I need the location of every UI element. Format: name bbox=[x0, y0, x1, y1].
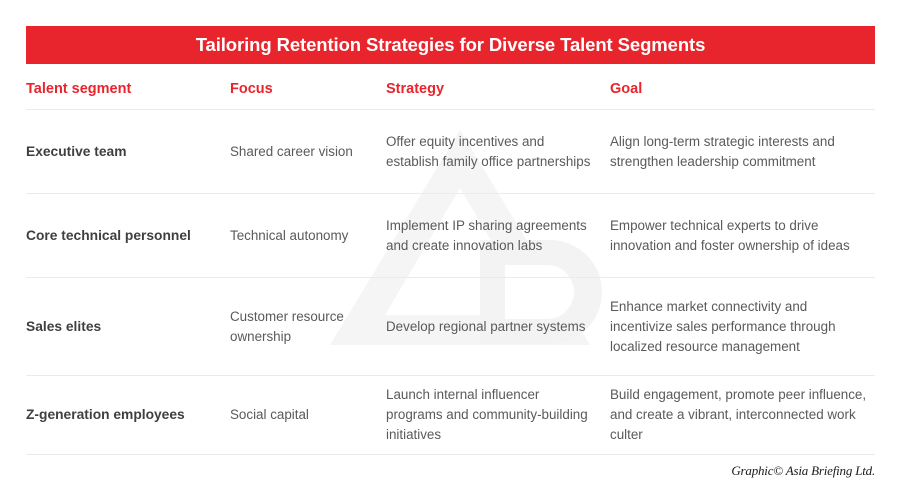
cell-talent-segment: Z-generation employees bbox=[26, 405, 230, 425]
retention-strategies-table: Talent segment Focus Strategy Goal Execu… bbox=[26, 74, 875, 455]
cell-focus: Customer resource ownership bbox=[230, 307, 386, 347]
cell-goal: Enhance market connectivity and incentiv… bbox=[610, 297, 875, 357]
column-header-goal: Goal bbox=[610, 74, 875, 99]
table-row: Core technical personnel Technical auton… bbox=[26, 194, 875, 278]
cell-focus: Shared career vision bbox=[230, 142, 386, 162]
column-header-strategy: Strategy bbox=[386, 74, 610, 99]
column-header-focus: Focus bbox=[230, 74, 386, 99]
cell-strategy: Develop regional partner systems bbox=[386, 317, 610, 337]
graphic-title-bar: Tailoring Retention Strategies for Diver… bbox=[26, 26, 875, 64]
cell-strategy: Launch internal influencer programs and … bbox=[386, 385, 610, 445]
cell-strategy: Offer equity incentives and establish fa… bbox=[386, 132, 610, 172]
page-title: Tailoring Retention Strategies for Diver… bbox=[196, 34, 706, 56]
cell-talent-segment: Executive team bbox=[26, 142, 230, 162]
graphic-credit: Graphic© Asia Briefing Ltd. bbox=[731, 463, 875, 478]
cell-focus: Social capital bbox=[230, 405, 386, 425]
cell-goal: Empower technical experts to drive innov… bbox=[610, 216, 875, 256]
cell-goal: Build engagement, promote peer influence… bbox=[610, 385, 875, 445]
table-row: Sales elites Customer resource ownership… bbox=[26, 278, 875, 376]
column-header-talent-segment: Talent segment bbox=[26, 74, 230, 99]
cell-goal: Align long-term strategic interests and … bbox=[610, 132, 875, 172]
table-row: Z-generation employees Social capital La… bbox=[26, 376, 875, 455]
cell-focus: Technical autonomy bbox=[230, 226, 386, 246]
footer-credit-area: Graphic© Asia Briefing Ltd. bbox=[26, 462, 875, 480]
cell-talent-segment: Sales elites bbox=[26, 317, 230, 337]
table-row: Executive team Shared career vision Offe… bbox=[26, 110, 875, 194]
table-header-row: Talent segment Focus Strategy Goal bbox=[26, 74, 875, 110]
cell-talent-segment: Core technical personnel bbox=[26, 226, 230, 246]
cell-strategy: Implement IP sharing agreements and crea… bbox=[386, 216, 610, 256]
infographic-table-graphic: Tailoring Retention Strategies for Diver… bbox=[0, 0, 900, 501]
